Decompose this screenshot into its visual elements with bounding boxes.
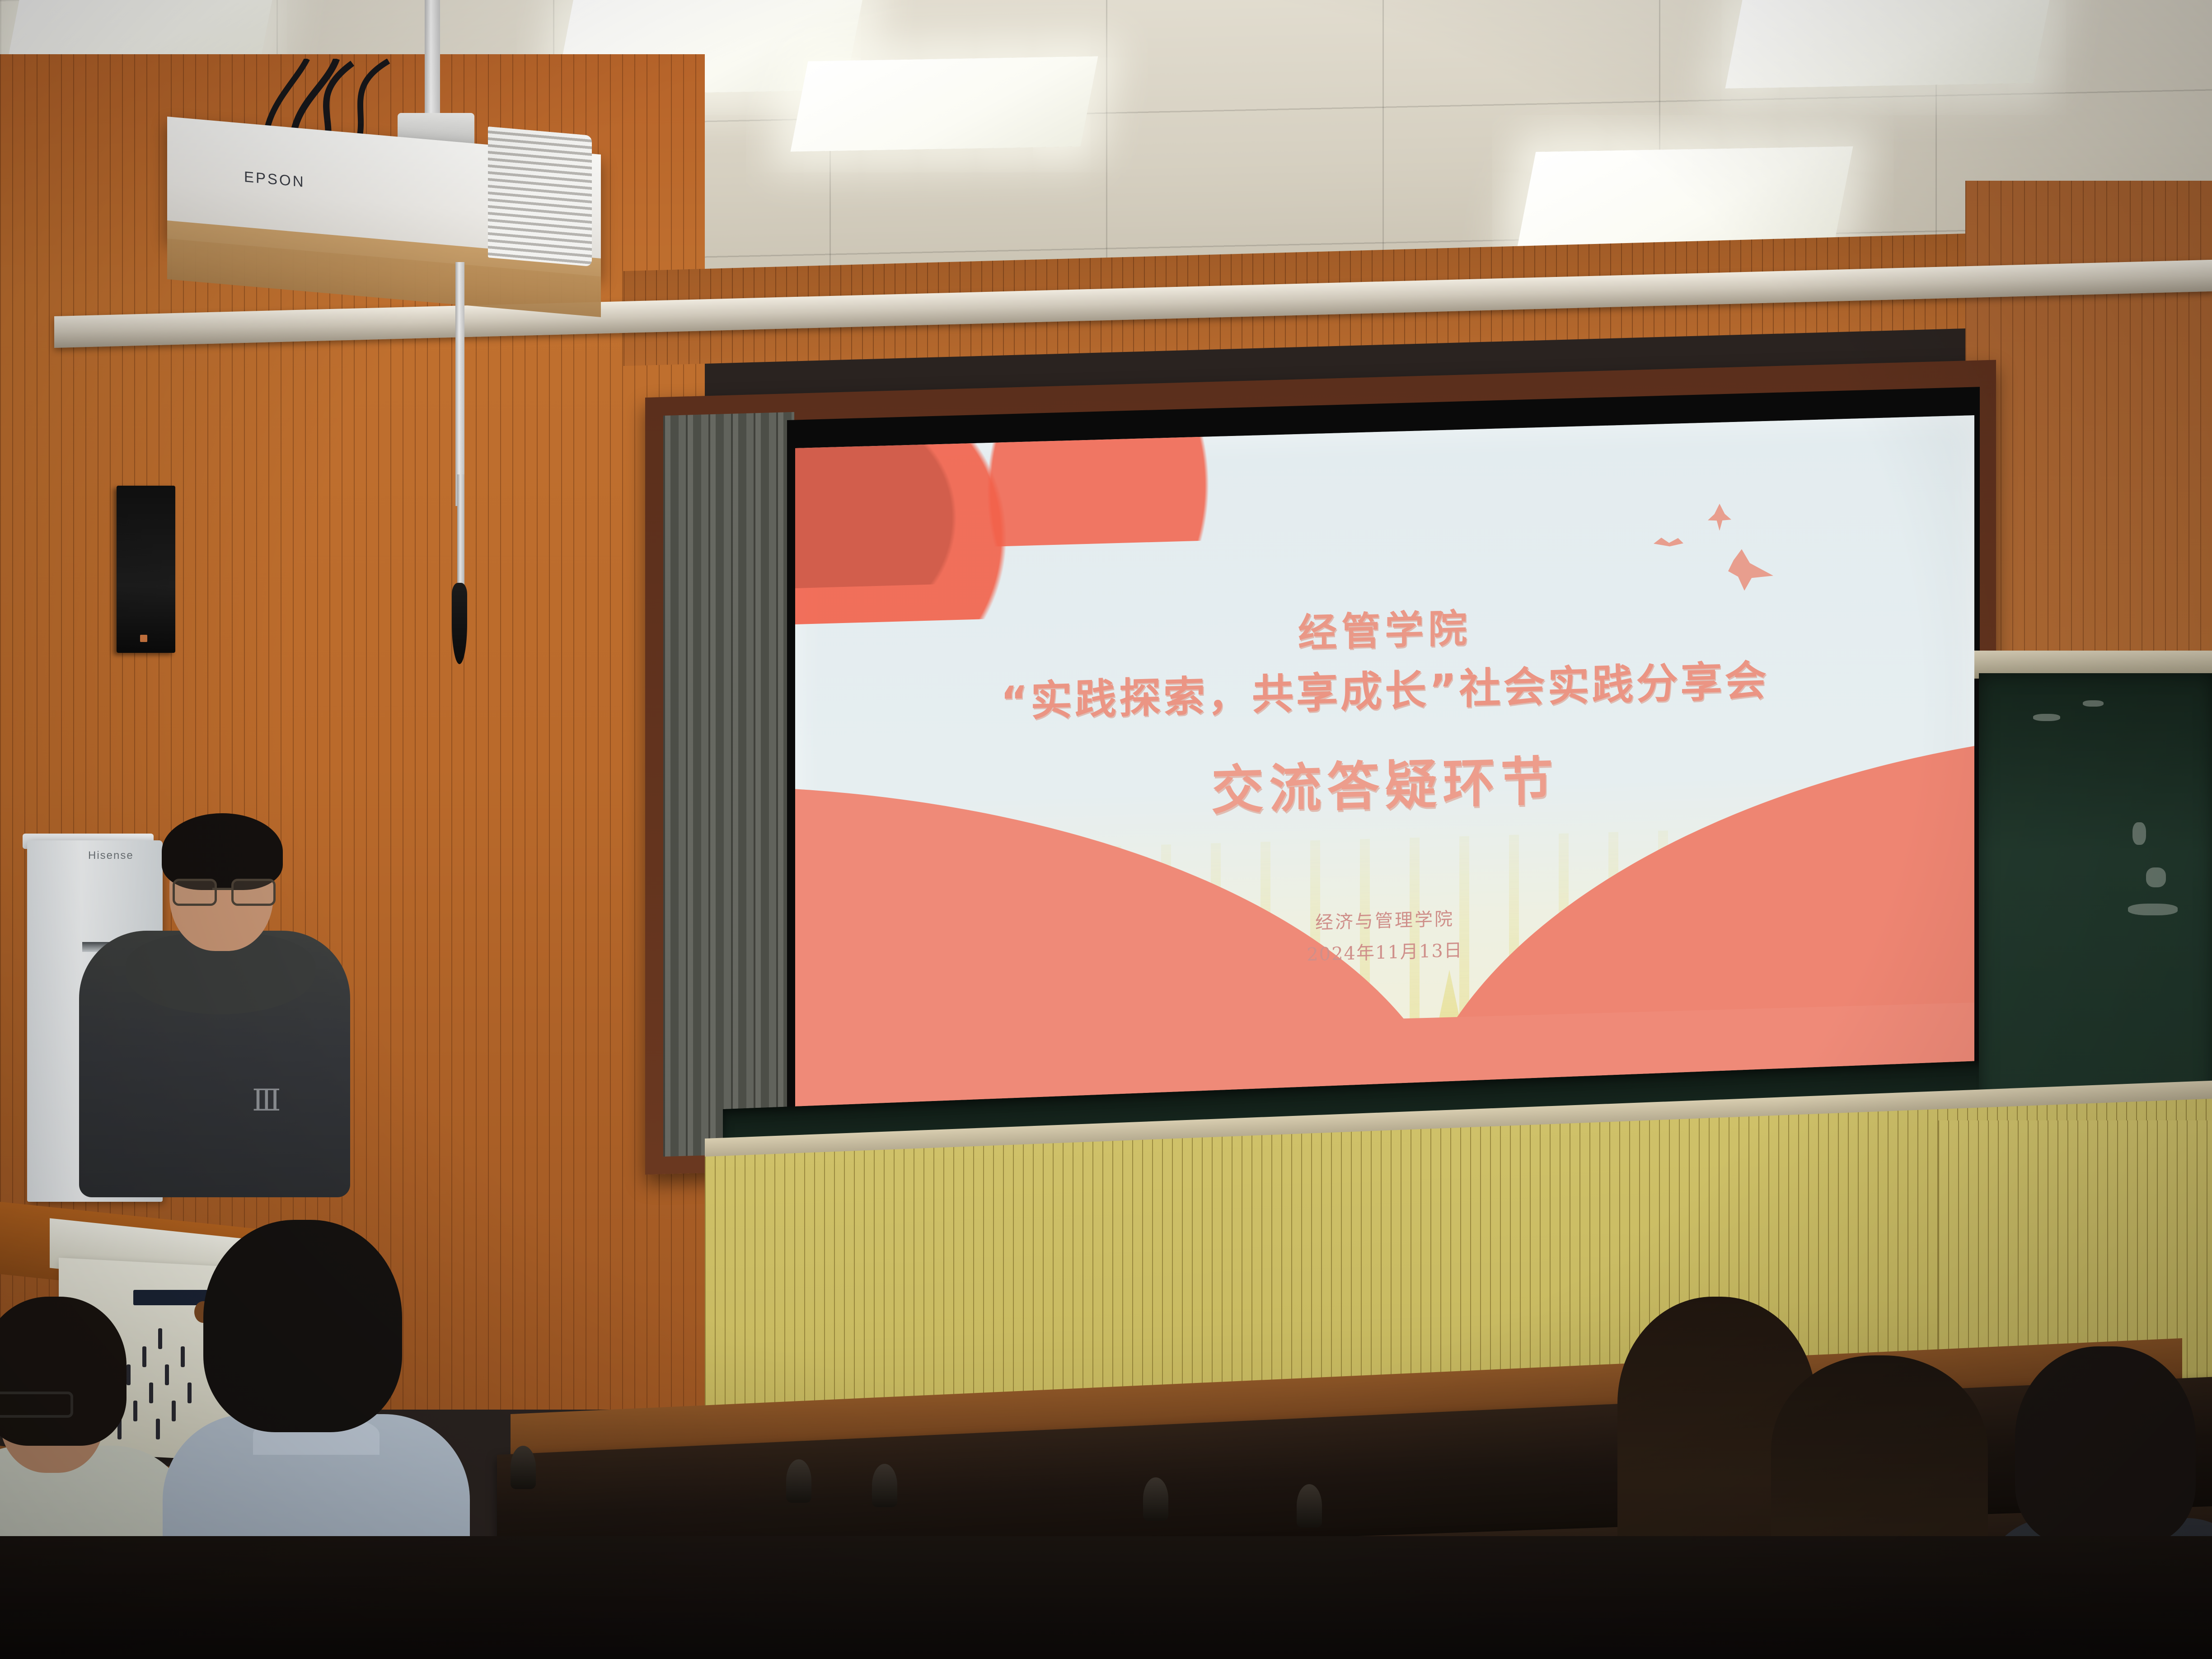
projection-screen: 经管学院 “实践探索，共享成长”社会实践分享会 交流答疑环节 经济与管理学院 2… bbox=[795, 415, 1974, 1126]
bench-finial bbox=[1143, 1477, 1168, 1521]
ceiling-light-panel bbox=[1517, 146, 1853, 247]
foreground-shadow bbox=[0, 1536, 2212, 1659]
slide-text-block: 经管学院 “实践探索，共享成长”社会实践分享会 交流答疑环节 经济与管理学院 2… bbox=[795, 415, 1974, 1126]
speaker-led-icon bbox=[140, 635, 147, 642]
classroom-photo-scene: EPSON bbox=[0, 0, 2212, 1659]
presenter-person: Ⅲ bbox=[72, 791, 352, 1197]
ceiling-light-panel bbox=[790, 56, 1098, 151]
bench-finial bbox=[786, 1459, 811, 1503]
microphone-stem bbox=[457, 474, 464, 587]
stage-curtain bbox=[663, 412, 794, 1157]
glasses-icon bbox=[173, 879, 271, 901]
projector-vent-grille-icon bbox=[488, 127, 592, 267]
bench-finial bbox=[872, 1464, 897, 1507]
bench-finial bbox=[1297, 1484, 1322, 1528]
bench-finial bbox=[511, 1446, 536, 1489]
wall-speaker bbox=[117, 486, 175, 653]
microphone-drop-pole bbox=[455, 262, 464, 506]
slide-line-3: 交流答疑环节 bbox=[795, 727, 1974, 836]
presenter-hoodie-logo-icon: Ⅲ bbox=[252, 1084, 284, 1118]
ceiling-light-panel bbox=[1725, 0, 2052, 89]
microphone-icon bbox=[452, 583, 467, 664]
